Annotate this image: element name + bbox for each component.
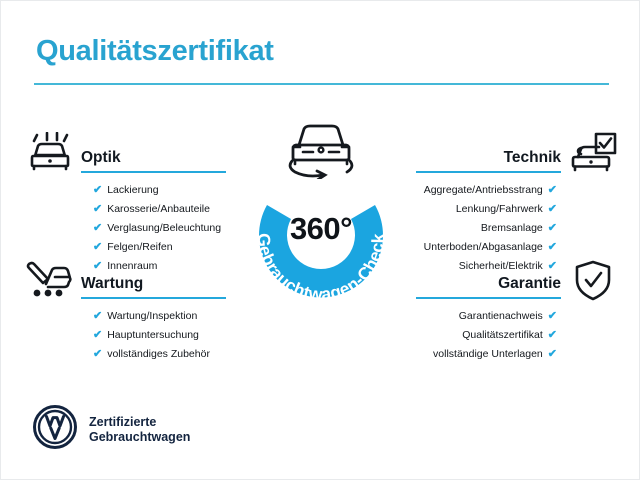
list-item-label: Lackierung xyxy=(107,181,158,200)
volkswagen-logo xyxy=(33,405,77,454)
footer-text: Zertifizierte Gebrauchtwagen xyxy=(89,415,190,445)
list-item: ✔ vollständiges Zubehör xyxy=(81,345,226,364)
checklist-optik: ✔ Lackierung ✔ Karosserie/Anbauteile ✔ V… xyxy=(81,181,226,276)
checklist-garantie: Garantienachweis ✔ Qualitätszertifikat ✔… xyxy=(416,307,561,364)
check-icon: ✔ xyxy=(548,223,557,234)
check-icon: ✔ xyxy=(93,349,102,360)
list-item: Bremsanlage ✔ xyxy=(416,219,561,238)
badge-center-label: 360° xyxy=(233,211,409,247)
check-icon: ✔ xyxy=(548,311,557,322)
section-divider xyxy=(81,171,226,174)
list-item-label: Felgen/Reifen xyxy=(107,238,172,257)
list-item-label: Aggregate/Antriebsstrang xyxy=(424,181,543,200)
list-item-label: Garantienachweis xyxy=(459,307,543,326)
list-item: ✔ Felgen/Reifen xyxy=(81,238,226,257)
footer-line-1: Zertifizierte xyxy=(89,415,190,430)
section-wartung: Wartung ✔ Wartung/Inspektion ✔ Hauptunte… xyxy=(81,265,226,364)
list-item: Qualitätszertifikat ✔ xyxy=(416,326,561,345)
list-item: Lenkung/Fahrwerk ✔ xyxy=(416,200,561,219)
check-icon: ✔ xyxy=(548,185,557,196)
section-header-technik: Technik xyxy=(416,139,561,173)
check-icon: ✔ xyxy=(93,185,102,196)
footer-line-2: Gebrauchtwagen xyxy=(89,430,190,445)
section-garantie: Garantie Garantienachweis ✔ Qualitätszer… xyxy=(416,265,561,364)
section-divider xyxy=(416,297,561,300)
list-item: ✔ Wartung/Inspektion xyxy=(81,307,226,326)
list-item: ✔ Hauptuntersuchung xyxy=(81,326,226,345)
list-item-label: vollständiges Zubehör xyxy=(107,345,210,364)
list-item: vollständige Unterlagen ✔ xyxy=(416,345,561,364)
section-header-wartung: Wartung xyxy=(81,265,226,299)
section-divider xyxy=(416,171,561,174)
section-heading: Technik xyxy=(504,149,561,167)
section-optik: Optik ✔ Lackierung ✔ Karosserie/Anbautei… xyxy=(81,139,226,276)
list-item-label: Karosserie/Anbauteile xyxy=(107,200,210,219)
list-item: Garantienachweis ✔ xyxy=(416,307,561,326)
list-item-label: vollständige Unterlagen xyxy=(433,345,543,364)
list-item-label: Lenkung/Fahrwerk xyxy=(456,200,543,219)
checklist-technik: Aggregate/Antriebsstrang ✔ Lenkung/Fahrw… xyxy=(416,181,561,276)
car-front-rotation-icon xyxy=(279,117,363,179)
check-icon: ✔ xyxy=(93,223,102,234)
list-item: Aggregate/Antriebsstrang ✔ xyxy=(416,181,561,200)
section-heading: Wartung xyxy=(81,275,143,293)
wrench-car-icon xyxy=(24,258,74,305)
section-heading: Garantie xyxy=(498,275,561,293)
list-item-label: Hauptuntersuchung xyxy=(107,326,199,345)
section-divider xyxy=(81,297,226,300)
shield-check-icon xyxy=(573,260,613,307)
certificate-page: Qualitätszertifikat Optik xyxy=(0,0,640,480)
check-icon: ✔ xyxy=(93,311,102,322)
check-icon: ✔ xyxy=(93,242,102,253)
list-item: ✔ Lackierung xyxy=(81,181,226,200)
check-icon: ✔ xyxy=(93,204,102,215)
checklist-wartung: ✔ Wartung/Inspektion ✔ Hauptuntersuchung… xyxy=(81,307,226,364)
list-item: Unterboden/Abgasanlage ✔ xyxy=(416,238,561,257)
check-icon: ✔ xyxy=(548,349,557,360)
list-item-label: Wartung/Inspektion xyxy=(107,307,197,326)
list-item-label: Unterboden/Abgasanlage xyxy=(424,238,543,257)
check-icon: ✔ xyxy=(93,330,102,341)
section-header-optik: Optik xyxy=(81,139,226,173)
check-icon: ✔ xyxy=(548,330,557,341)
list-item: ✔ Karosserie/Anbauteile xyxy=(81,200,226,219)
section-heading: Optik xyxy=(81,149,121,167)
car-checkbox-icon xyxy=(569,132,617,179)
car-shine-icon xyxy=(27,132,73,177)
footer: Zertifizierte Gebrauchtwagen xyxy=(33,405,190,454)
section-header-garantie: Garantie xyxy=(416,265,561,299)
list-item-label: Qualitätszertifikat xyxy=(462,326,543,345)
section-technik: Technik Aggregate/Antriebsstrang ✔ Lenku… xyxy=(416,139,561,276)
list-item: ✔ Verglasung/Beleuchtung xyxy=(81,219,226,238)
list-item-label: Bremsanlage xyxy=(481,219,543,238)
title-divider xyxy=(34,83,609,85)
check-icon: ✔ xyxy=(548,242,557,253)
check-icon: ✔ xyxy=(548,204,557,215)
list-item-label: Verglasung/Beleuchtung xyxy=(107,219,221,238)
page-title: Qualitätszertifikat xyxy=(36,35,274,68)
